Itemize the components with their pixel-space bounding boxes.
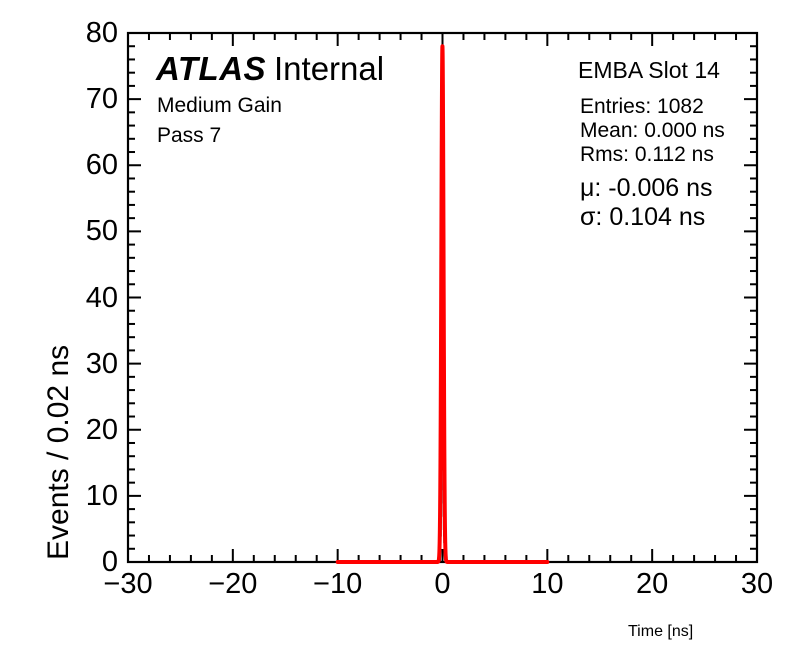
x-tick-label: −20 [188, 570, 278, 599]
fit-sigma-value: σ: 0.104 ns [580, 205, 705, 230]
x-axis-title: Time [ns] [628, 624, 693, 640]
plot-canvas: Events / 0.02 ns Time [ns] ATLAS Interna… [0, 0, 796, 672]
x-tick-label: 10 [502, 570, 592, 599]
stat-rms: Rms: 0.112 ns [580, 144, 714, 165]
y-tick-label: 50 [66, 217, 118, 246]
y-tick-label: 20 [66, 416, 118, 445]
x-tick-label: 20 [607, 570, 697, 599]
slot-label: EMBA Slot 14 [578, 59, 720, 82]
y-tick-label: 10 [66, 482, 118, 511]
y-tick-label: 60 [66, 151, 118, 180]
atlas-status-label: Internal [274, 52, 384, 85]
stat-entries: Entries: 1082 [580, 96, 704, 117]
x-tick-label: 30 [712, 570, 796, 599]
y-tick-label: 80 [66, 19, 118, 48]
y-tick-label: 40 [66, 284, 118, 313]
gain-label: Medium Gain [157, 95, 282, 116]
atlas-label: ATLAS [156, 52, 266, 85]
x-tick-label: 0 [398, 570, 488, 599]
stat-mean: Mean: 0.000 ns [580, 120, 725, 141]
y-tick-label: 70 [66, 85, 118, 114]
x-tick-label: −10 [293, 570, 383, 599]
x-tick-label: −30 [83, 570, 173, 599]
pass-label: Pass 7 [157, 125, 221, 146]
fit-mu-value: μ: -0.006 ns [580, 176, 713, 201]
y-tick-label: 30 [66, 350, 118, 379]
